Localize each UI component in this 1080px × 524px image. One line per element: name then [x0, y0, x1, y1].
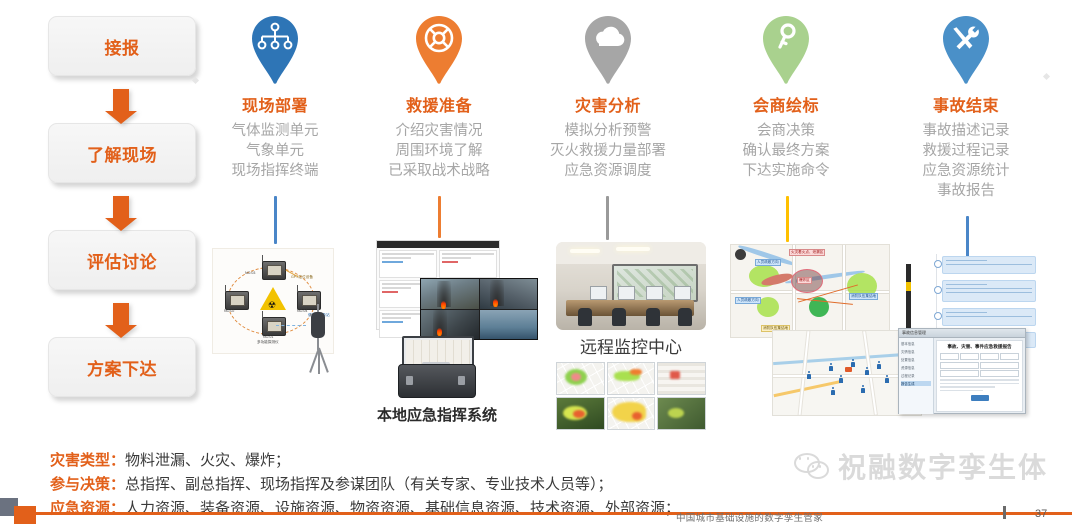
column-line: 周围环境了解: [378, 141, 500, 161]
column-line: 气体监测单元: [216, 121, 334, 141]
column-title: 灾害分析: [532, 92, 684, 116]
column-line: 确认最终方案: [722, 141, 850, 161]
connector-line-4: [786, 196, 789, 242]
portable-weather-station: [308, 304, 334, 376]
case-latch: [406, 376, 413, 385]
monitor: [590, 286, 607, 300]
report-table-row: [940, 353, 1019, 360]
instrument-box: [311, 312, 325, 338]
column-line: 事故描述记录: [902, 121, 1030, 141]
tactical-deployment-map: 人员疏散方向 人员疏散方向 消防队伍集结地 消防队伍集结地 爆炸区 火灾着火点、…: [730, 244, 890, 338]
summary-sep: ：: [110, 452, 125, 469]
simulation-tile: [556, 397, 605, 430]
footer-separator: [1003, 506, 1006, 519]
media-caption: 本地应急指挥系统: [372, 404, 502, 425]
key-icon: [757, 14, 815, 88]
simulation-tile: [556, 362, 605, 395]
timeline-dot: [934, 312, 942, 320]
ceiling-light: [616, 247, 650, 251]
flow-step-2[interactable]: 了解现场: [48, 123, 196, 183]
responder-marker: [865, 367, 869, 375]
video-tile: [480, 279, 538, 309]
page-number: 37: [1035, 508, 1047, 520]
column-line: 下达实施命令: [722, 161, 850, 181]
simulation-tile: [607, 362, 656, 395]
sidebar-item[interactable]: 灾情信息: [901, 349, 931, 354]
flow-arrow-2: [48, 183, 194, 230]
column-title: 现场部署: [216, 92, 334, 116]
flow-step-4-label: 方案下达: [87, 355, 157, 380]
down-arrow-icon: [113, 196, 129, 218]
control-room-photo: [556, 242, 706, 330]
radiation-symbol: ☢: [268, 301, 276, 310]
responder-marker: [885, 375, 889, 383]
cloud-upload-icon: [579, 14, 637, 88]
tools-icon: [937, 14, 995, 88]
responder-marker: [877, 361, 881, 369]
column-rescue-preparation: 救援准备 介绍灾害情况 周围环境了解 已采取战术战略: [378, 14, 500, 181]
flow-step-2-label: 了解现场: [87, 141, 157, 166]
column-line: 应急资源统计: [902, 161, 1030, 181]
ceiling-light: [570, 249, 600, 253]
confirm-button[interactable]: [971, 395, 989, 401]
column-title: 救援准备: [378, 92, 500, 116]
tripod-leg: [318, 348, 328, 373]
column-incident-closure: 事故结束 事故描述记录 救援过程记录 应急资源统计 事故报告: [902, 14, 1030, 201]
timeline-card: [942, 308, 1036, 326]
column-lines: 气体监测单元 气象单元 现场指挥终端: [216, 121, 334, 181]
device-no3: [262, 261, 286, 280]
responder-marker: [807, 371, 811, 379]
column-title: 事故结束: [902, 92, 1030, 116]
footer-text: 中国城市基础设施的数字孪生管家: [676, 510, 823, 524]
summary-value: 物料泄漏、火灾、爆炸；: [125, 452, 290, 469]
process-flow: 接报 了解现场 评估讨论 方案下达: [48, 16, 194, 397]
column-line: 会商决策: [722, 121, 850, 141]
watermark-text: 祝融数字孪生体: [838, 446, 1048, 486]
flow-step-3-label: 评估讨论: [87, 248, 157, 273]
slide-canvas: 接报 了解现场 评估讨论 方案下达 现场部署 气体监测单元 气象单元 现场指挥终…: [0, 0, 1080, 523]
alarm-card: [439, 250, 497, 278]
hierarchy-icon: [246, 14, 304, 88]
column-lines: 介绍灾害情况 周围环境了解 已采取战术战略: [378, 121, 500, 181]
monitor: [618, 286, 635, 300]
timeline-card: [942, 280, 1036, 302]
report-document: 事故、灾害、事件应急救援报告: [936, 340, 1023, 412]
sidebar-item[interactable]: 过程记录: [901, 373, 931, 378]
simulation-tile: [607, 397, 656, 430]
sidebar-item[interactable]: 基本信息: [901, 341, 931, 346]
summary-value: 总指挥、副总指挥、现场指挥及参谋团队（有关专家、专业技术人员等）；: [125, 476, 613, 493]
case-latch: [458, 376, 465, 385]
highlight-marker: [906, 282, 911, 291]
road: [843, 245, 845, 337]
flow-step-4[interactable]: 方案下达: [48, 337, 196, 397]
summary-block: 灾害类型：物料泄漏、火灾、爆炸； 参与决策：总指挥、副总指挥、现场指挥及参谋团队…: [50, 449, 680, 521]
footer-rule: [14, 512, 1072, 515]
column-lines: 事故描述记录 救援过程记录 应急资源统计 事故报告: [902, 121, 1030, 201]
media-gas-detection-diagram: NO.03 NO.02 NO.04 NO.01 多功能探测仪 ☢ GPS定位设备…: [212, 248, 334, 354]
media-caption: 远程监控中心: [556, 333, 706, 358]
column-disaster-analysis: 灾害分析 模拟分析预警 灭火救援力量部署 应急资源调度: [532, 14, 684, 181]
chair: [612, 308, 626, 326]
monitor: [674, 286, 691, 300]
alarm-card: [379, 250, 437, 278]
summary-row: 灾害类型：物料泄漏、火灾、爆炸；: [50, 449, 680, 473]
chair: [578, 308, 592, 326]
life-ring-icon: [410, 14, 468, 88]
sidebar-item[interactable]: 处置信息: [901, 357, 931, 362]
responder-marker: [831, 387, 835, 395]
column-line: 应急资源调度: [532, 161, 684, 181]
simulation-map-grid: [556, 362, 706, 430]
simulation-tile: [657, 362, 706, 395]
ceiling: [556, 242, 706, 264]
sidebar-item-selected[interactable]: 报告生成: [901, 381, 931, 386]
down-arrow-icon: [113, 89, 129, 111]
column-consultation-marking: 会商绘标 会商决策 确认最终方案 下达实施命令: [722, 14, 850, 181]
column-site-deployment: 现场部署 气体监测单元 气象单元 现场指挥终端: [216, 14, 334, 181]
responder-marker: [839, 375, 843, 383]
summary-key: 参与决策: [50, 476, 110, 493]
connector-line-2: [438, 196, 441, 238]
summary-key: 灾害类型: [50, 452, 110, 469]
report-table-row: [940, 362, 1019, 369]
media-remote-monitoring-center: 远程监控中心: [556, 242, 706, 430]
media-tactical-maps: 人员疏散方向 人员疏散方向 消防队伍集结地 消防队伍集结地 爆炸区 火灾着火点、…: [730, 244, 890, 338]
down-arrow-icon: [113, 303, 129, 325]
dialog-sidebar: 基本信息 灾情信息 处置信息 资源信息 过程记录 报告生成: [899, 338, 934, 414]
chair: [678, 308, 692, 326]
chair: [646, 308, 660, 326]
responder-marker: [829, 363, 833, 371]
flow-arrow-1: [48, 76, 194, 123]
timeline-dot: [934, 286, 942, 294]
compass-icon: [735, 249, 746, 260]
sidebar-item[interactable]: 资源信息: [901, 365, 931, 370]
device-no2: [225, 291, 249, 310]
connector-line-3: [606, 196, 609, 240]
column-lines: 模拟分析预警 灭火救援力量部署 应急资源调度: [532, 121, 684, 181]
link-line: [276, 325, 306, 327]
flow-step-1[interactable]: 接报: [48, 16, 196, 76]
watermark: 祝融数字孪生体: [794, 446, 1048, 486]
timeline-card: [942, 256, 1036, 274]
responder-marker: [861, 385, 865, 393]
titlebar: [377, 241, 499, 248]
column-line: 灭火救援力量部署: [532, 141, 684, 161]
column-line: 已采取战术战略: [378, 161, 500, 181]
decor-diamond: [1043, 73, 1050, 80]
column-line: 事故报告: [902, 181, 1030, 201]
monitor: [646, 286, 663, 300]
column-lines: 会商决策 确认最终方案 下达实施命令: [722, 121, 850, 181]
incident-report-dialog[interactable]: 事故信息管理 基本信息 灾情信息 处置信息 资源信息 过程记录 报告生成 事故、…: [898, 328, 1026, 414]
summary-sep: ：: [110, 476, 125, 493]
flow-step-3[interactable]: 评估讨论: [48, 230, 196, 290]
footer-square-orange: [14, 506, 36, 524]
video-tile: [421, 279, 479, 309]
video-quad-view: [420, 278, 538, 340]
report-title: 事故、灾害、事件应急救援报告: [940, 344, 1019, 350]
summary-row: 应急资源：人力资源、装备资源、设施资源、物资资源、基础信息资源、技术资源、外部资…: [50, 497, 680, 521]
video-tile: [480, 310, 538, 340]
column-line: 模拟分析预警: [532, 121, 684, 141]
road: [793, 245, 795, 337]
video-tile: [421, 310, 479, 340]
column-line: 气象单元: [216, 141, 334, 161]
summary-row: 参与决策：总指挥、副总指挥、现场指挥及参谋团队（有关专家、专业技术人员等）；: [50, 473, 680, 497]
dialog-body: 基本信息 灾情信息 处置信息 资源信息 过程记录 报告生成 事故、灾害、事件应急…: [899, 338, 1025, 414]
report-table-row: [940, 370, 1019, 377]
wechat-icon: [794, 453, 830, 479]
column-line: 救援过程记录: [902, 141, 1030, 161]
responder-marker: [851, 359, 855, 367]
rugged-command-case: [396, 336, 476, 398]
incident-marker: [845, 367, 852, 372]
dialog-titlebar: 事故信息管理: [899, 329, 1025, 338]
flow-arrow-3: [48, 290, 194, 337]
simulation-tile: [657, 397, 706, 430]
flow-step-1-label: 接报: [105, 34, 140, 59]
connector-line-1: [274, 196, 277, 244]
column-line: 现场指挥终端: [216, 161, 334, 181]
column-line: 介绍灾害情况: [378, 121, 500, 141]
tripod-leg: [318, 348, 320, 374]
media-incident-records: 事故信息管理 基本信息 灾情信息 处置信息 资源信息 过程记录 报告生成 事故、…: [906, 254, 1038, 354]
column-title: 会商绘标: [722, 92, 850, 116]
media-local-command-system: 本地应急指挥系统: [376, 240, 500, 330]
timeline-dot: [934, 260, 942, 268]
